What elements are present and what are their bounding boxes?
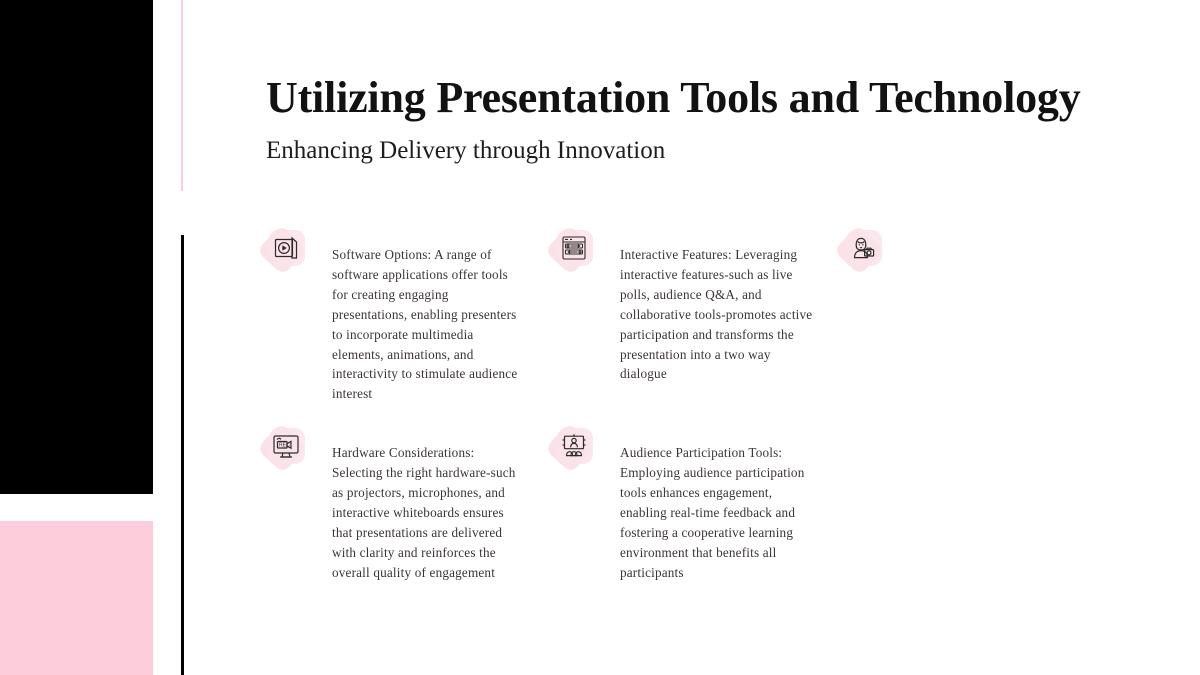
content-block-hardware-considerations: REC Hardware Considerations: Selecting t… [262,426,550,582]
icon-glyph [847,232,879,264]
content-block-text: Interactive Features: Leveraging interac… [620,228,820,384]
media-play-slide-icon [262,228,308,274]
svg-text:REC: REC [279,443,290,449]
slide-subtitle: Enhancing Delivery through Innovation [266,134,966,168]
content-block-interactive-features: Interactive Features: Leveraging interac… [550,228,850,404]
content-block-software-options: Software Options: A range of software ap… [262,228,550,404]
content-block-audience-participation: Audience Participation Tools: Employing … [550,426,850,582]
content-block-text: Hardware Considerations: Selecting the r… [332,426,522,582]
presentation-slide: Utilizing Presentation Tools and Technol… [0,0,1200,675]
decoration-black-block [0,0,153,494]
decoration-pink-vertical-rule [181,0,183,191]
content-block-text: Audience Participation Tools: Employing … [620,426,820,582]
slide-title: Utilizing Presentation Tools and Technol… [266,70,1126,126]
monitor-rec-camera-icon: REC [262,426,308,472]
content-row-2: REC Hardware Considerations: Selecting t… [262,426,922,582]
icon-glyph [558,232,590,264]
content-blocks: Software Options: A range of software ap… [262,228,922,583]
presenter-audience-icon [550,426,596,472]
icon-glyph [558,430,590,462]
interactive-list-rows-icon [550,228,596,274]
content-block-text: Software Options: A range of software ap… [332,228,522,404]
icon-glyph: REC [270,430,302,462]
presenter-person-desk-icon [839,228,885,274]
icon-glyph [270,232,302,264]
decoration-black-vertical-rule [181,235,184,675]
decoration-pink-block [0,521,153,675]
content-row-1: Software Options: A range of software ap… [262,228,922,404]
icon-badge [839,228,885,274]
